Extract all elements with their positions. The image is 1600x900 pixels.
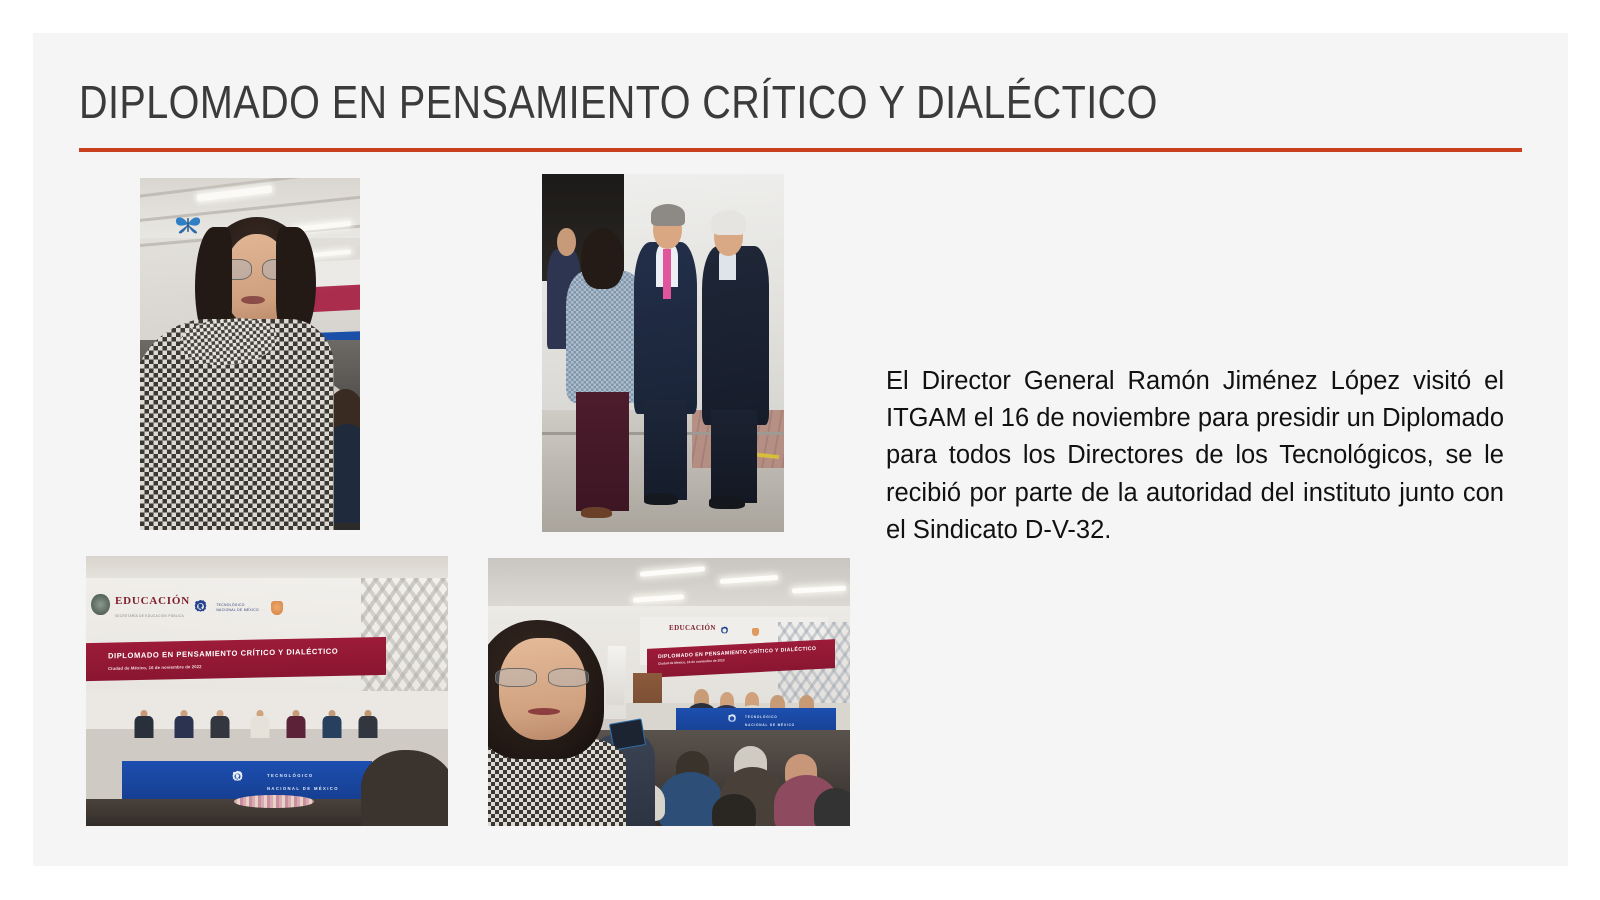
photo-panel-presidium: EDUCACIÓN SECRETARÍA DE EDUCACIÓN PÚBLIC… [86,556,448,826]
tecnm-logo-line2: NACIONAL DE MÉXICO [216,608,259,613]
photo-greeting-scene [542,174,784,532]
slide-canvas: DIPLOMADO EN PENSAMIENTO CRÍTICO Y DIALÉ… [33,33,1568,866]
panelist-body [286,716,305,738]
tecnm-table-logo-icon [727,713,737,724]
director-shoe [644,493,678,505]
foreground-attendee-silhouette [361,750,448,826]
title-divider-rule [79,148,1522,152]
host-shoe [709,496,745,509]
unam-logo-icon [752,628,759,636]
butterfly-wall-decoration [173,213,203,235]
audience-head [814,788,850,826]
host-suit-jacket [702,246,770,425]
table-logo-line2: NACIONAL DE MÉXICO [745,723,795,727]
background-person-head [557,228,576,257]
body-paragraph: El Director General Ramón Jiménez López … [886,363,1504,549]
panelist-body [134,716,153,738]
subject-glasses [495,668,589,687]
table-logo-line1: TECNOLÓGICO [745,715,778,719]
panelist-body [174,716,193,738]
ceremonial-flag [606,646,626,706]
tecnm-gear-icon [720,626,729,635]
woman-maroon-trousers [576,392,629,510]
photo-woman-portrait [140,178,360,530]
panelist-body [250,716,269,738]
tecnm-logo-text: TECNOLÓGICO NACIONAL DE MÉXICO [216,603,259,613]
photo-selfie-auditorium: EDUCACIÓN DIPLOMADO EN PENSAMIENTO CRÍTI… [488,558,850,826]
host-trousers [711,410,757,503]
audience-head [712,794,755,826]
photo-selfie-scene: EDUCACIÓN DIPLOMADO EN PENSAMIENTO CRÍTI… [488,558,850,826]
panelist-body [210,716,229,738]
host-white-hair [711,210,746,235]
photo-greeting-outdoors [542,174,784,532]
woman-shoe [581,507,612,518]
woman-hair [581,228,625,289]
director-pink-tie [663,249,671,299]
glasses-lens-left [495,668,536,687]
panelist-body [323,716,342,738]
photo-panel-scene: EDUCACIÓN SECRETARÍA DE EDUCACIÓN PÚBLIC… [86,556,448,826]
page-title: DIPLOMADO EN PENSAMIENTO CRÍTICO Y DIALÉ… [79,75,1335,129]
director-trousers [644,400,688,500]
subject-face [499,638,586,740]
unam-logo-icon [271,601,283,615]
educacion-logo-text: EDUCACIÓN [115,595,190,607]
panelist-body [359,716,378,738]
director-hair [651,204,685,225]
table-logo-line1: TECNOLÓGICO [267,773,314,778]
tecnm-gear-icon [193,599,208,614]
photo-woman-scene [140,178,360,530]
presidium-table [122,761,372,799]
educacion-logo-subtext: SECRETARÍA DE EDUCACIÓN PÚBLICA [115,614,184,618]
sep-seal-icon [91,594,109,616]
glasses-lens-right [548,668,589,687]
woman-blue-jacket [566,271,643,403]
educacion-logo-text: EDUCACIÓN [669,624,716,632]
tecnm-table-logo-icon [231,769,244,784]
table-logo-line2: NACIONAL DE MÉXICO [267,786,339,791]
